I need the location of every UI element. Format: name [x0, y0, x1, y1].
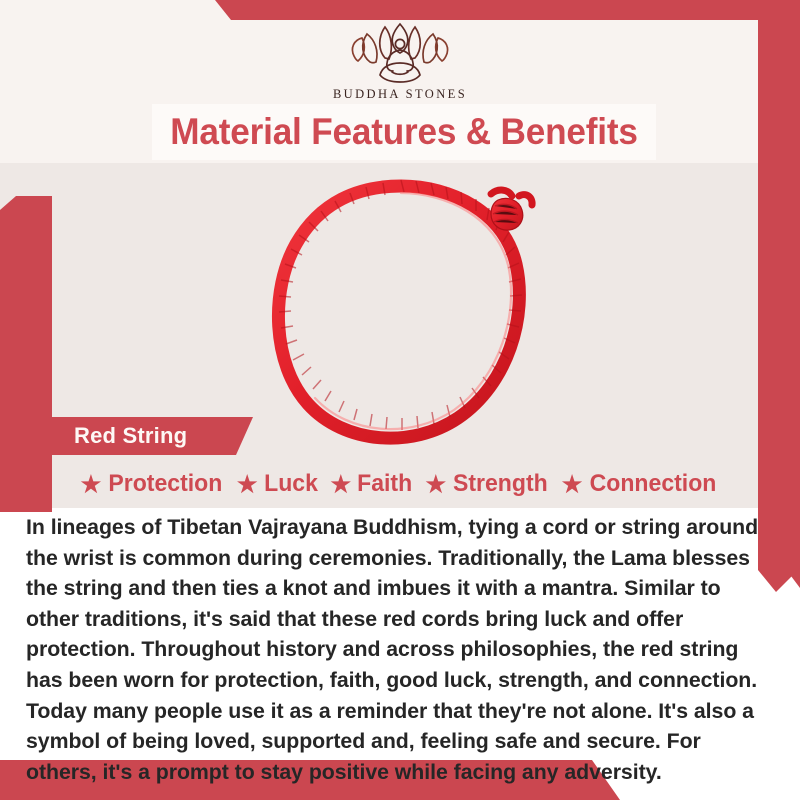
title-banner: Material Features & Benefits	[152, 104, 656, 160]
feature-item-luck: ★ Luck	[231, 470, 325, 498]
feature-label: Connection	[590, 470, 717, 498]
feature-item-faith: ★ Faith	[325, 470, 420, 498]
description-text: In lineages of Tibetan Vajrayana Buddhis…	[26, 512, 774, 787]
feature-item-strength: ★ Strength	[419, 470, 555, 498]
brand-logo: BUDDHA STONES	[0, 18, 800, 102]
product-name-label: Red String	[74, 423, 187, 449]
feature-item-connection: ★ Connection	[556, 470, 726, 498]
infographic-page: BUDDHA STONES Material Features & Benefi…	[0, 0, 800, 800]
brand-name: BUDDHA STONES	[333, 87, 467, 102]
page-title: Material Features & Benefits	[170, 111, 637, 153]
star-icon: ★	[331, 473, 352, 496]
star-icon: ★	[237, 473, 258, 496]
feature-label: Protection	[109, 470, 223, 498]
star-icon: ★	[425, 473, 446, 496]
star-icon: ★	[81, 473, 102, 496]
product-image	[236, 172, 566, 452]
lotus-meditation-figure-icon	[340, 18, 460, 84]
decorative-ribbon-left	[0, 196, 52, 512]
feature-label: Faith	[357, 470, 412, 498]
feature-label: Luck	[264, 470, 318, 498]
product-name-banner: Red String	[28, 417, 253, 455]
feature-item-protection: ★ Protection	[75, 470, 231, 498]
star-icon: ★	[562, 473, 583, 496]
red-braided-string-bracelet-image	[236, 172, 566, 452]
feature-label: Strength	[453, 470, 548, 498]
feature-list: ★ Protection ★ Luck ★ Faith ★ Strength ★…	[0, 466, 800, 502]
